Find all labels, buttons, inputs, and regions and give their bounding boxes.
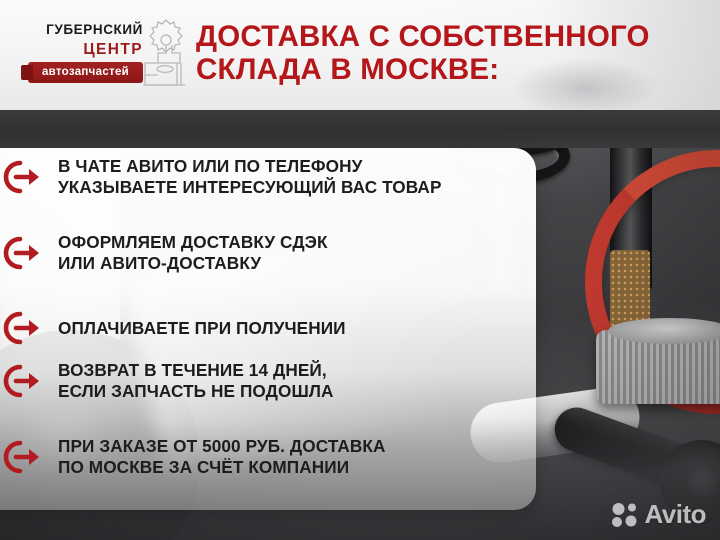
list-item-text: В ЧАТЕ АВИТО ИЛИ ПО ТЕЛЕФОНУ УКАЗЫВАЕТЕ … — [58, 156, 442, 198]
list-item: ОФОРМЛЯЕМ ДОСТАВКУ СДЭК ИЛИ АВИТО-ДОСТАВ… — [0, 232, 328, 274]
list-item-line-2: ИЛИ АВИТО-ДОСТАВКУ — [58, 253, 328, 274]
list-item-text: ОФОРМЛЯЕМ ДОСТАВКУ СДЭК ИЛИ АВИТО-ДОСТАВ… — [58, 232, 328, 274]
avito-watermark: Avito — [610, 499, 706, 530]
list-item-line-1: ПРИ ЗАКАЗЕ ОТ 5000 РУБ. ДОСТАВКА — [58, 436, 385, 457]
title-line-2: СКЛАДА В МОСКВЕ: — [196, 53, 696, 86]
list-item: ОПЛАЧИВАЕТЕ ПРИ ПОЛУЧЕНИИ — [0, 308, 346, 348]
benefits-panel: В ЧАТЕ АВИТО ИЛИ ПО ТЕЛЕФОНУ УКАЗЫВАЕТЕ … — [0, 148, 536, 510]
header-bar: ГУБЕРНСКИЙ ЦЕНТР автозапчастей ДОСТАВКА … — [0, 0, 720, 110]
list-item-line-2: ПО МОСКВЕ ЗА СЧЁТ КОМПАНИИ — [58, 457, 385, 478]
list-item-line-2: УКАЗЫВАЕТЕ ИНТЕРЕСУЮЩИЙ ВАС ТОВАР — [58, 177, 442, 198]
list-item-text: ОПЛАЧИВАЕТЕ ПРИ ПОЛУЧЕНИИ — [58, 318, 346, 339]
avito-label: Avito — [644, 499, 706, 530]
list-item-line-2: ЕСЛИ ЗАПЧАСТЬ НЕ ПОДОШЛА — [58, 381, 334, 402]
list-item-text: ПРИ ЗАКАЗЕ ОТ 5000 РУБ. ДОСТАВКА ПО МОСК… — [58, 436, 385, 478]
logo-line-gubernskiy: ГУБЕРНСКИЙ — [46, 22, 143, 37]
divider-band — [0, 110, 720, 148]
lathe-machine-outline-icon — [141, 18, 187, 88]
logo-line-centr: ЦЕНТР — [83, 41, 143, 59]
list-item: ПРИ ЗАКАЗЕ ОТ 5000 РУБ. ДОСТАВКА ПО МОСК… — [0, 436, 385, 478]
list-item-line-1: ВОЗВРАТ В ТЕЧЕНИЕ 14 ДНЕЙ, — [58, 360, 334, 381]
logo-line-avtozapchastey: автозапчастей — [28, 63, 143, 82]
list-item-line-1: ОФОРМЛЯЕМ ДОСТАВКУ СДЭК — [58, 232, 328, 253]
exit-arrow-icon — [0, 157, 46, 197]
benefits-list: В ЧАТЕ АВИТО ИЛИ ПО ТЕЛЕФОНУ УКАЗЫВАЕТЕ … — [0, 148, 536, 510]
page-title: ДОСТАВКА С СОБСТВЕННОГО СКЛАДА В МОСКВЕ: — [196, 20, 696, 87]
list-item-text: ВОЗВРАТ В ТЕЧЕНИЕ 14 ДНЕЙ, ЕСЛИ ЗАПЧАСТЬ… — [58, 360, 334, 402]
avito-dots-icon — [610, 502, 640, 528]
promo-poster: ГУБЕРНСКИЙ ЦЕНТР автозапчастей ДОСТАВКА … — [0, 0, 720, 540]
title-line-1: ДОСТАВКА С СОБСТВЕННОГО — [196, 20, 696, 53]
list-item: ВОЗВРАТ В ТЕЧЕНИЕ 14 ДНЕЙ, ЕСЛИ ЗАПЧАСТЬ… — [0, 360, 334, 402]
list-item: В ЧАТЕ АВИТО ИЛИ ПО ТЕЛЕФОНУ УКАЗЫВАЕТЕ … — [0, 156, 442, 198]
exit-arrow-icon — [0, 437, 46, 477]
list-item-line-1: В ЧАТЕ АВИТО ИЛИ ПО ТЕЛЕФОНУ — [58, 156, 442, 177]
company-logo: ГУБЕРНСКИЙ ЦЕНТР автозапчастей — [28, 20, 183, 92]
exit-arrow-icon — [0, 233, 46, 273]
exit-arrow-icon — [0, 361, 46, 401]
list-item-line-1: ОПЛАЧИВАЕТЕ ПРИ ПОЛУЧЕНИИ — [58, 318, 346, 339]
exit-arrow-icon — [0, 308, 46, 348]
